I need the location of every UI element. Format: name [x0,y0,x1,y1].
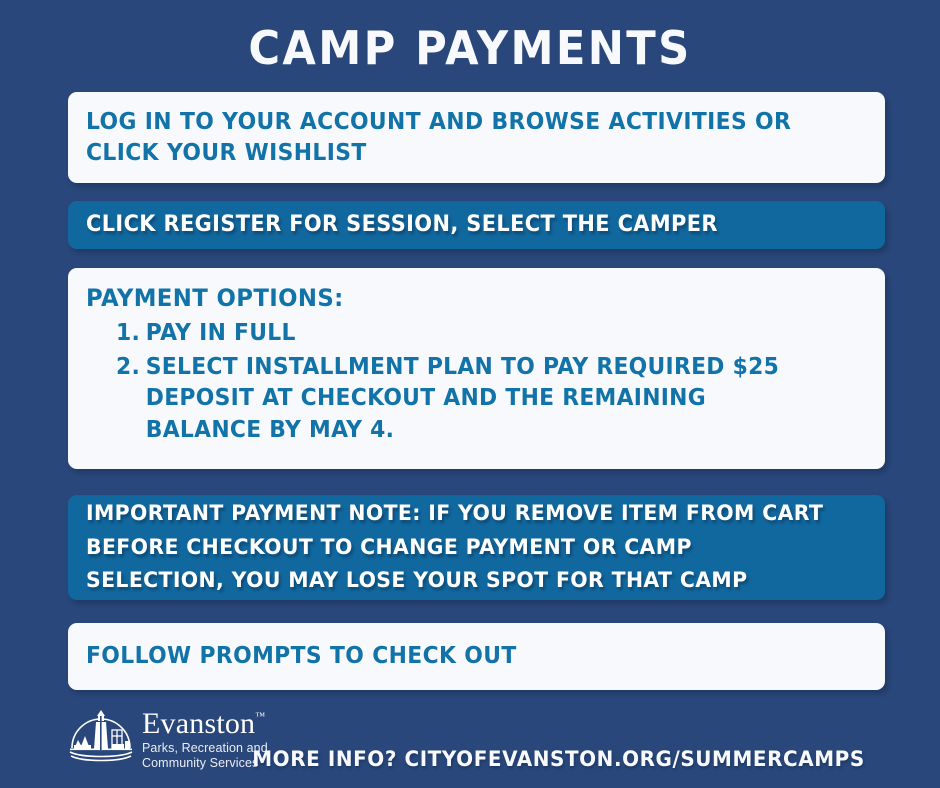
payment-options-heading: PAYMENT OPTIONS: [86,284,828,312]
lighthouse-emblem-icon [68,708,134,764]
step-card-register: CLICK REGISTER FOR SESSION, SELECT THE C… [68,201,885,249]
logo-trademark: ™ [255,711,265,722]
logo-name-text: Evanston [142,707,255,740]
step-card-important-note: IMPORTANT PAYMENT NOTE: IF YOU REMOVE IT… [68,495,885,600]
more-info-url: MORE INFO? CITYOFEVANSTON.ORG/SUMMERCAMP… [252,747,865,771]
step-card-login: LOG IN TO YOUR ACCOUNT AND BROWSE ACTIVI… [68,92,885,183]
logo-name: Evanston™ [142,710,265,739]
step-follow-text: FOLLOW PROMPTS TO CHECK OUT [86,641,828,672]
list-item-number: 2. [116,352,140,384]
footer: Evanston™ Parks, Recreation and Communit… [0,700,940,788]
logo-subtitle: Parks, Recreation and Community Services [142,741,268,772]
important-note-text: IMPORTANT PAYMENT NOTE: IF YOU REMOVE IT… [86,497,828,598]
logo-subtitle-line2: Community Services [142,756,268,771]
step-card-payment-options: PAYMENT OPTIONS: 1. PAY IN FULL 2. SELEC… [68,268,885,469]
step-register-text: CLICK REGISTER FOR SESSION, SELECT THE C… [86,210,828,239]
step-card-follow-prompts: FOLLOW PROMPTS TO CHECK OUT [68,623,885,690]
list-item-text: SELECT INSTALLMENT PLAN TO PAY REQUIRED … [146,352,830,447]
logo-subtitle-line1: Parks, Recreation and [142,741,268,756]
logo-wordmark: Evanston™ Parks, Recreation and Communit… [142,708,268,771]
evanston-logo: Evanston™ Parks, Recreation and Communit… [68,708,268,771]
list-item-text: PAY IN FULL [146,318,830,350]
list-item: 2. SELECT INSTALLMENT PLAN TO PAY REQUIR… [116,352,829,447]
poster-canvas: CAMP PAYMENTS LOG IN TO YOUR ACCOUNT AND… [0,0,940,788]
payment-options-list: 1. PAY IN FULL 2. SELECT INSTALLMENT PLA… [86,318,867,448]
step-login-text: LOG IN TO YOUR ACCOUNT AND BROWSE ACTIVI… [86,107,828,168]
list-item: 1. PAY IN FULL [116,318,829,350]
list-item-number: 1. [116,318,140,350]
page-title: CAMP PAYMENTS [28,24,912,72]
